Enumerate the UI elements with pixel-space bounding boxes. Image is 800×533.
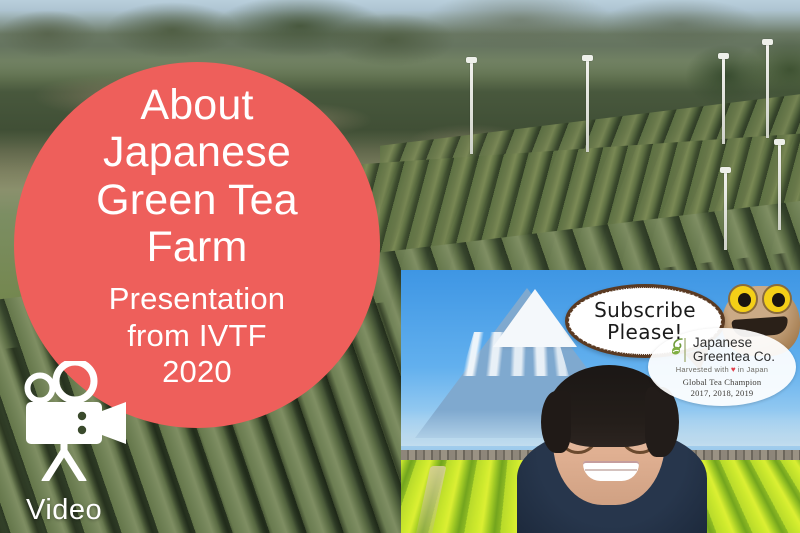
video-preview-panel[interactable]: Subscribe Please! Japanese Greentea Co. …: [401, 270, 800, 533]
movie-camera-icon: [14, 361, 134, 481]
heart-icon: ♥: [731, 365, 736, 374]
mascot-right-eye: [762, 284, 792, 314]
thumbnail-canvas: About Japanese Green Tea Farm Presentati…: [0, 0, 800, 533]
frost-fan-pole: [586, 60, 589, 152]
brand-award-line-2: 2017, 2018, 2019: [683, 388, 762, 398]
mascot-left-pupil: [738, 293, 751, 307]
speech-bubble-line-2: Please!: [607, 321, 683, 343]
brand-logo-row: Japanese Greentea Co.: [669, 336, 775, 364]
brand-tagline-pre: Harvested with: [676, 365, 729, 374]
presenter-smile: [583, 461, 639, 481]
video-badge-label: Video: [26, 494, 102, 527]
brand-award-line-1: Global Tea Champion: [683, 377, 762, 387]
brand-name-line-2: Greentea Co.: [693, 350, 775, 364]
page-title: About Japanese Green Tea Farm: [14, 82, 380, 271]
brand-tagline: Harvested with ♥ in Japan: [676, 365, 768, 374]
mascot-left-eye: [728, 284, 758, 314]
brand-name: Japanese Greentea Co.: [693, 336, 775, 364]
subtitle-line-1: Presentation: [14, 281, 380, 318]
subtitle-line-2: from IVTF: [14, 318, 380, 355]
fuji-snow-streaks: [461, 332, 569, 376]
speech-bubble-line-1: Subscribe: [594, 299, 696, 321]
frost-fan-pole: [778, 144, 781, 230]
title-line-4: Farm: [14, 224, 380, 271]
frost-fan-pole: [766, 44, 769, 138]
frost-fan-pole: [470, 62, 473, 154]
title-line-1: About: [14, 82, 380, 129]
video-badge[interactable]: Video: [8, 361, 158, 531]
brand-name-line-1: Japanese: [693, 336, 775, 350]
mascot-right-pupil: [772, 293, 785, 307]
frost-fan-pole: [724, 172, 727, 250]
title-line-3: Green Tea: [14, 177, 380, 224]
title-line-2: Japanese: [14, 129, 380, 176]
frost-fan-pole: [722, 58, 725, 144]
brand-tagline-post: in Japan: [738, 365, 768, 374]
brand-award: Global Tea Champion 2017, 2018, 2019: [683, 377, 762, 398]
